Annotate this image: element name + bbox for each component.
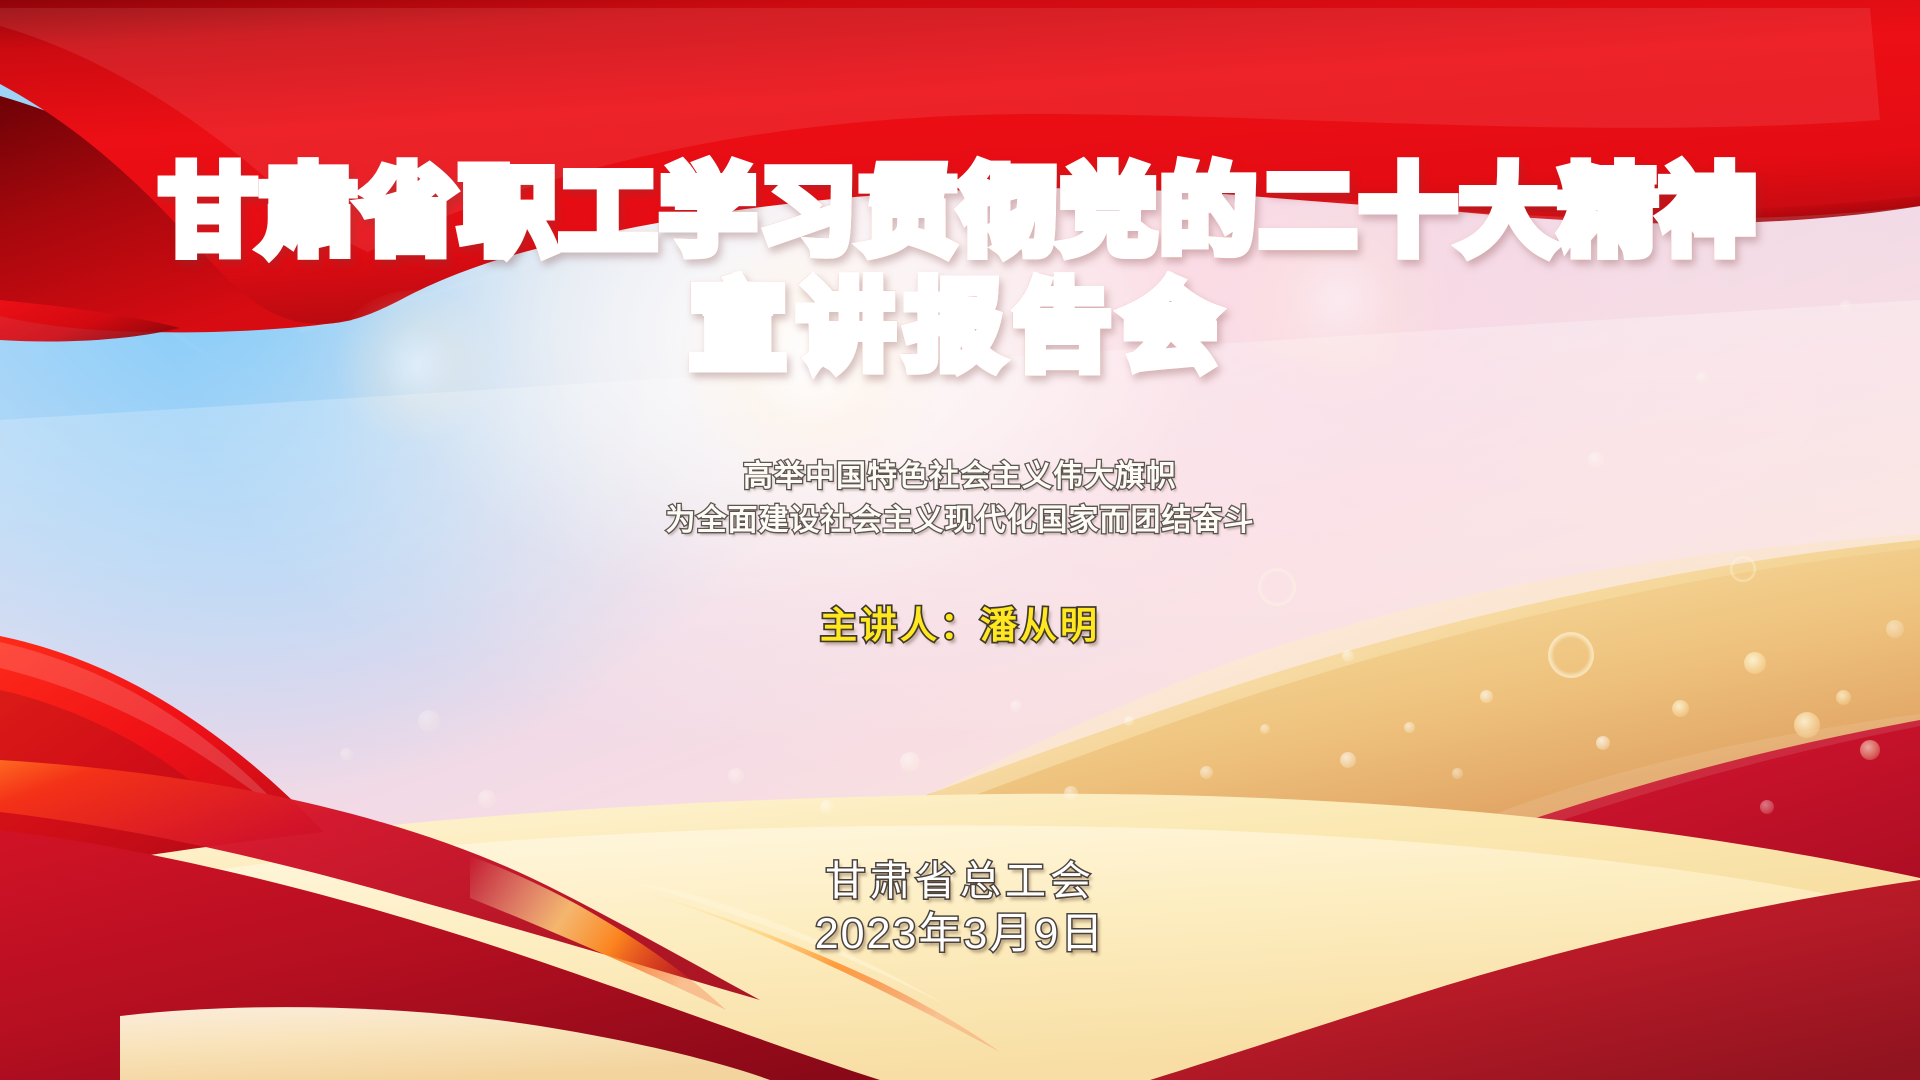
main-title: 甘肃省职工学习贯彻党的二十大精神 宣讲报告会 (0, 158, 1920, 383)
poster-canvas: 甘肃省职工学习贯彻党的二十大精神 宣讲报告会 高举中国特色社会主义伟大旗帜 为全… (0, 0, 1920, 1080)
main-title-line-2: 宣讲报告会 (0, 273, 1920, 382)
organizer-name: 甘肃省总工会 (0, 855, 1920, 907)
slogan-line-1: 高举中国特色社会主义伟大旗帜 (0, 455, 1920, 499)
speaker-name: 主讲人：潘从明 (0, 595, 1920, 649)
slogan-line-2: 为全面建设社会主义现代化国家而团结奋斗 (0, 499, 1920, 543)
main-title-line-1: 甘肃省职工学习贯彻党的二十大精神 (0, 158, 1920, 267)
slogan-block: 高举中国特色社会主义伟大旗帜 为全面建设社会主义现代化国家而团结奋斗 (0, 455, 1920, 543)
organizer-block: 甘肃省总工会 2023年3月9日 (0, 855, 1920, 963)
event-date: 2023年3月9日 (0, 907, 1920, 962)
poster-text-content: 甘肃省职工学习贯彻党的二十大精神 宣讲报告会 高举中国特色社会主义伟大旗帜 为全… (0, 0, 1920, 1080)
speaker-block: 主讲人：潘从明 (0, 595, 1920, 649)
